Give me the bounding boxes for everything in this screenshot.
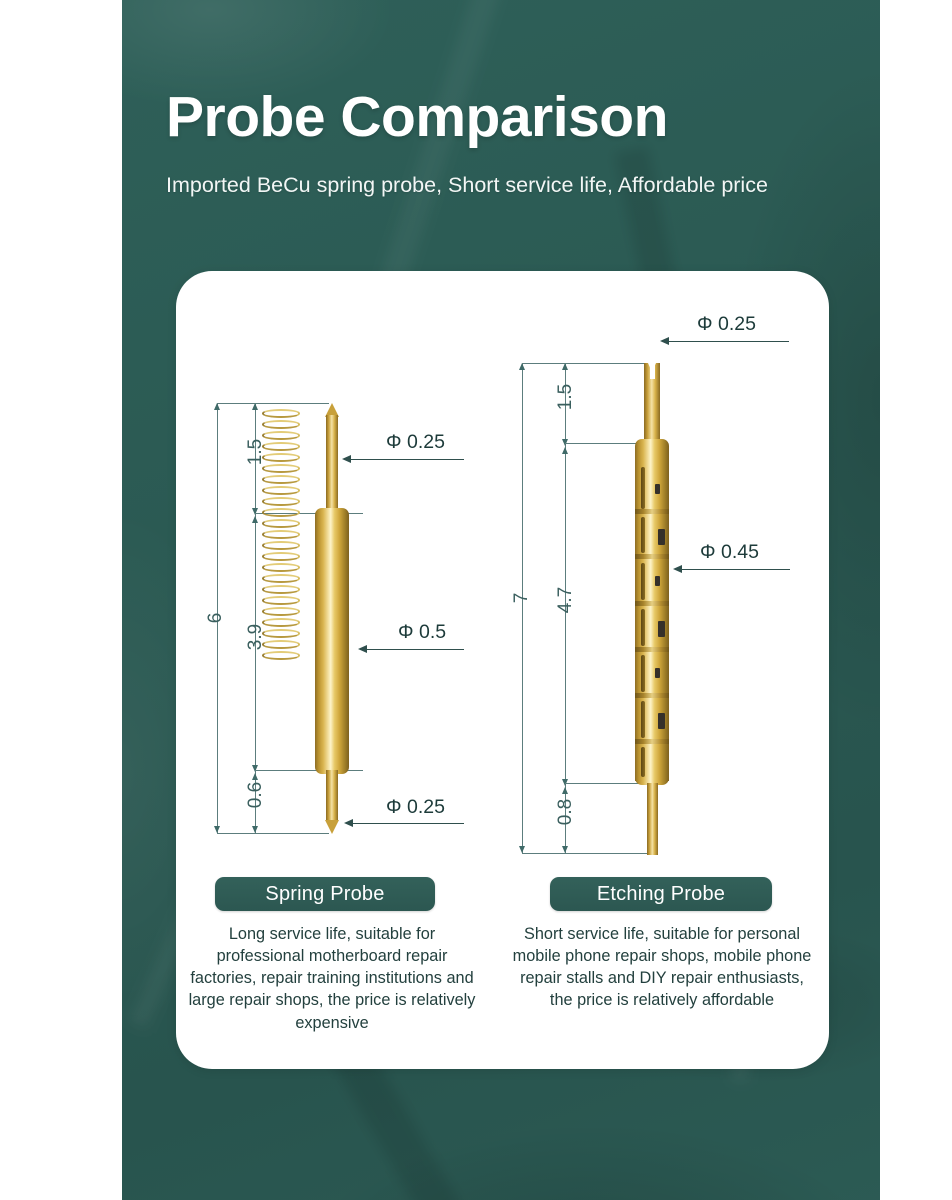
probe-lower-tail bbox=[647, 783, 658, 855]
spring-probe-description: Long service life, suitable for professi… bbox=[186, 923, 478, 1034]
probe-barrel bbox=[315, 523, 349, 763]
extension-line bbox=[217, 403, 329, 404]
etching-probe-description: Short service life, suitable for persona… bbox=[508, 923, 816, 1012]
segment-label-lower: 0.6 bbox=[245, 773, 267, 817]
dimension-arrow-down bbox=[519, 846, 525, 853]
overall-length-label: 6 bbox=[205, 598, 227, 638]
leader-line bbox=[362, 649, 464, 650]
comparison-card: 6 1.5 3.9 0.6 bbox=[176, 271, 829, 1069]
etching-probe-column: 7 1.5 4.7 0.8 bbox=[502, 271, 829, 1069]
etched-slot bbox=[641, 563, 645, 600]
etched-slot bbox=[641, 655, 645, 692]
dimension-arrow-up bbox=[562, 363, 568, 370]
dimension-arrow-up bbox=[519, 363, 525, 370]
barrel-diameter-label: Φ 0.45 bbox=[700, 541, 759, 564]
spring-probe-column: 6 1.5 3.9 0.6 bbox=[176, 271, 502, 1069]
leader-line bbox=[346, 459, 464, 460]
extension-line bbox=[522, 363, 656, 364]
etched-ring bbox=[635, 554, 669, 559]
segment-label-barrel: 4.7 bbox=[555, 578, 577, 622]
leader-line bbox=[664, 341, 789, 342]
page-subtitle: Imported BeCu spring probe, Short servic… bbox=[166, 170, 786, 202]
dimension-arrow-down bbox=[562, 846, 568, 853]
spring-probe-pill: Spring Probe bbox=[215, 877, 435, 911]
segment-label-upper: 1.5 bbox=[555, 375, 577, 419]
lower-tip-diameter-label: Φ 0.25 bbox=[386, 796, 445, 819]
leader-line bbox=[677, 569, 790, 570]
etched-notch bbox=[655, 668, 660, 678]
dimension-arrow-up bbox=[214, 403, 220, 410]
etched-slot bbox=[641, 517, 645, 553]
dimension-arrow-up bbox=[252, 403, 258, 410]
etched-notch bbox=[658, 621, 665, 637]
probe-lower-plunger bbox=[326, 770, 338, 822]
leader-arrow bbox=[660, 337, 669, 345]
etched-notch bbox=[655, 484, 660, 494]
etched-slot bbox=[641, 609, 645, 646]
segment-label-lower: 0.8 bbox=[555, 790, 577, 834]
dimension-arrow-down bbox=[214, 826, 220, 833]
dimension-arrow-up bbox=[252, 516, 258, 523]
etched-slot bbox=[641, 701, 645, 738]
fork-notch bbox=[648, 363, 656, 372]
leader-arrow bbox=[358, 645, 367, 653]
overall-length-label: 7 bbox=[511, 578, 533, 618]
dimension-arrow-down bbox=[252, 826, 258, 833]
leader-arrow bbox=[673, 565, 682, 573]
leader-line bbox=[348, 823, 464, 824]
etched-ring bbox=[635, 739, 669, 744]
etched-slot bbox=[641, 747, 645, 777]
etched-slot bbox=[641, 467, 645, 509]
barrel-diameter-label: Φ 0.5 bbox=[398, 621, 446, 644]
probe-upper-plunger bbox=[326, 415, 338, 515]
etched-ring bbox=[635, 693, 669, 698]
etched-notch bbox=[658, 529, 665, 545]
upper-tip-diameter-label: Φ 0.25 bbox=[386, 431, 445, 454]
page-title: Probe Comparison bbox=[166, 88, 866, 148]
etched-ring bbox=[635, 647, 669, 652]
upper-tip-diameter-label: Φ 0.25 bbox=[697, 313, 756, 336]
extension-line bbox=[522, 853, 656, 854]
leader-arrow bbox=[342, 455, 351, 463]
etched-ring bbox=[635, 509, 669, 514]
probe-lower-point bbox=[325, 820, 339, 834]
etched-notch bbox=[658, 713, 665, 729]
extension-line bbox=[217, 833, 329, 834]
etched-ring bbox=[635, 601, 669, 606]
spring-coil bbox=[262, 409, 300, 669]
leader-arrow bbox=[344, 819, 353, 827]
dimension-arrow-up bbox=[562, 447, 568, 454]
etched-notch bbox=[655, 576, 660, 586]
probe-comparison-page: Probe Comparison Imported BeCu spring pr… bbox=[0, 0, 952, 1200]
etching-probe-pill: Etching Probe bbox=[550, 877, 772, 911]
